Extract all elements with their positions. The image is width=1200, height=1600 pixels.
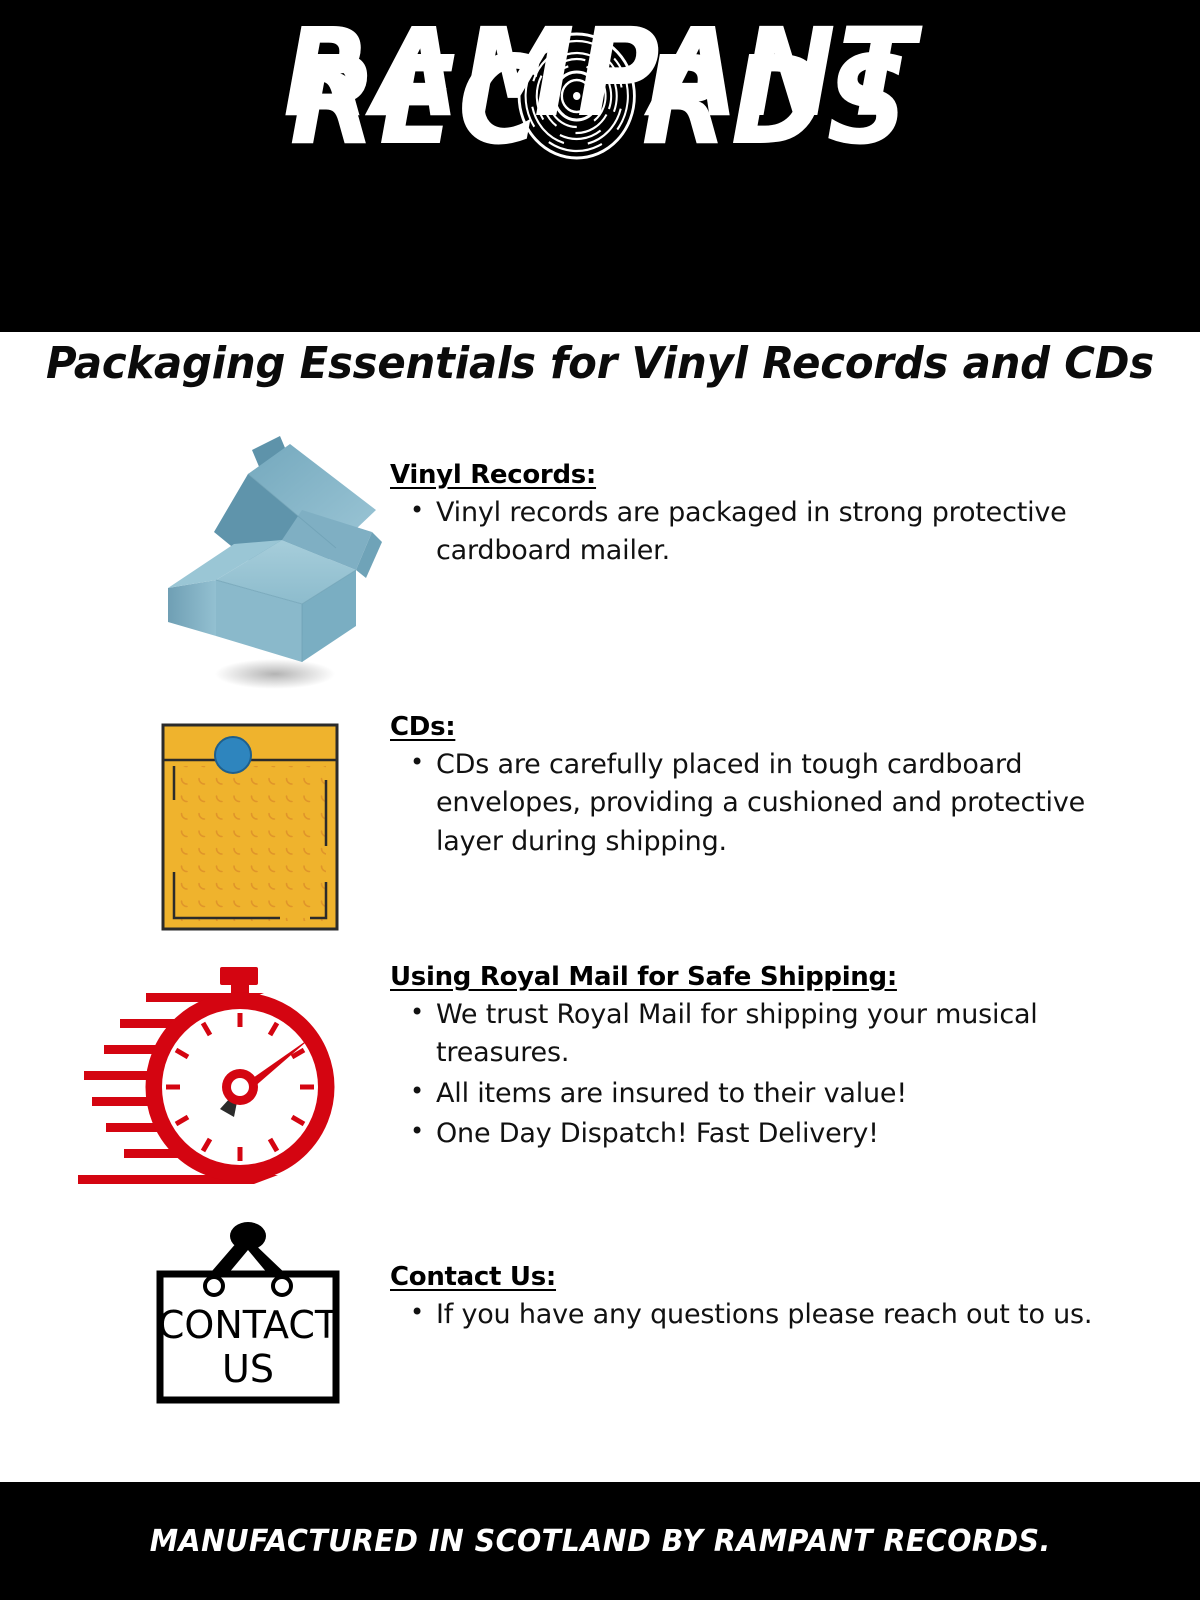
section-vinyl-heading: Vinyl Records: xyxy=(390,460,1160,490)
logo-line-2-after: RDS xyxy=(642,30,911,172)
section-vinyl-records: Vinyl Records: Vinyl records are package… xyxy=(0,460,1200,573)
open-cardboard-mailer-box-icon xyxy=(130,422,390,692)
section-cds-text: CDs: CDs are carefully placed in tough c… xyxy=(390,712,1200,863)
section-royal-mail-bullets: We trust Royal Mail for shipping your mu… xyxy=(390,996,1160,1153)
list-item: CDs are carefully placed in tough cardbo… xyxy=(436,746,1160,861)
logo-line-2-before: REC xyxy=(290,30,544,172)
contact-us-hanging-sign-icon: CONTACT US xyxy=(148,1216,348,1406)
section-cds-heading: CDs: xyxy=(390,712,1160,742)
section-contact-text: Contact Us: If you have any questions pl… xyxy=(390,1262,1200,1336)
list-item: We trust Royal Mail for shipping your mu… xyxy=(436,996,1160,1073)
logo-line-2: RECORDS xyxy=(290,40,911,332)
list-item: One Day Dispatch! Fast Delivery! xyxy=(436,1115,1160,1153)
section-contact-heading: Contact Us: xyxy=(390,1262,1160,1292)
section-cds: CDs: CDs are carefully placed in tough c… xyxy=(0,712,1200,863)
logo-line-2-wrapper: RECORDS xyxy=(0,148,1200,298)
list-item: All items are insured to their value! xyxy=(436,1075,1160,1113)
footer-text: MANUFACTURED IN SCOTLAND BY RAMPANT RECO… xyxy=(149,1524,1050,1559)
header-band: RAMPANT RECORDS xyxy=(0,0,1200,332)
section-contact-bullets: If you have any questions please reach o… xyxy=(390,1296,1160,1334)
section-royal-mail-heading: Using Royal Mail for Safe Shipping: xyxy=(390,962,1160,992)
padded-envelope-icon xyxy=(160,722,340,932)
section-royal-mail-text: Using Royal Mail for Safe Shipping: We t… xyxy=(390,962,1200,1155)
section-cds-bullets: CDs are carefully placed in tough cardbo… xyxy=(390,746,1160,861)
section-vinyl-text: Vinyl Records: Vinyl records are package… xyxy=(390,460,1200,573)
footer-band: MANUFACTURED IN SCOTLAND BY RAMPANT RECO… xyxy=(0,1482,1200,1600)
page-subtitle: Packaging Essentials for Vinyl Records a… xyxy=(30,338,1170,389)
section-contact-us: CONTACT US Contact Us: If you have any q… xyxy=(0,1262,1200,1336)
fast-stopwatch-icon xyxy=(68,957,368,1192)
list-item: Vinyl records are packaged in strong pro… xyxy=(436,494,1160,571)
contact-sign-label-line2: US xyxy=(222,1347,274,1391)
section-royal-mail: Using Royal Mail for Safe Shipping: We t… xyxy=(0,962,1200,1155)
list-item: If you have any questions please reach o… xyxy=(436,1296,1160,1334)
contact-sign-label-line1: CONTACT xyxy=(158,1303,339,1347)
section-vinyl-bullets: Vinyl records are packaged in strong pro… xyxy=(390,494,1160,571)
